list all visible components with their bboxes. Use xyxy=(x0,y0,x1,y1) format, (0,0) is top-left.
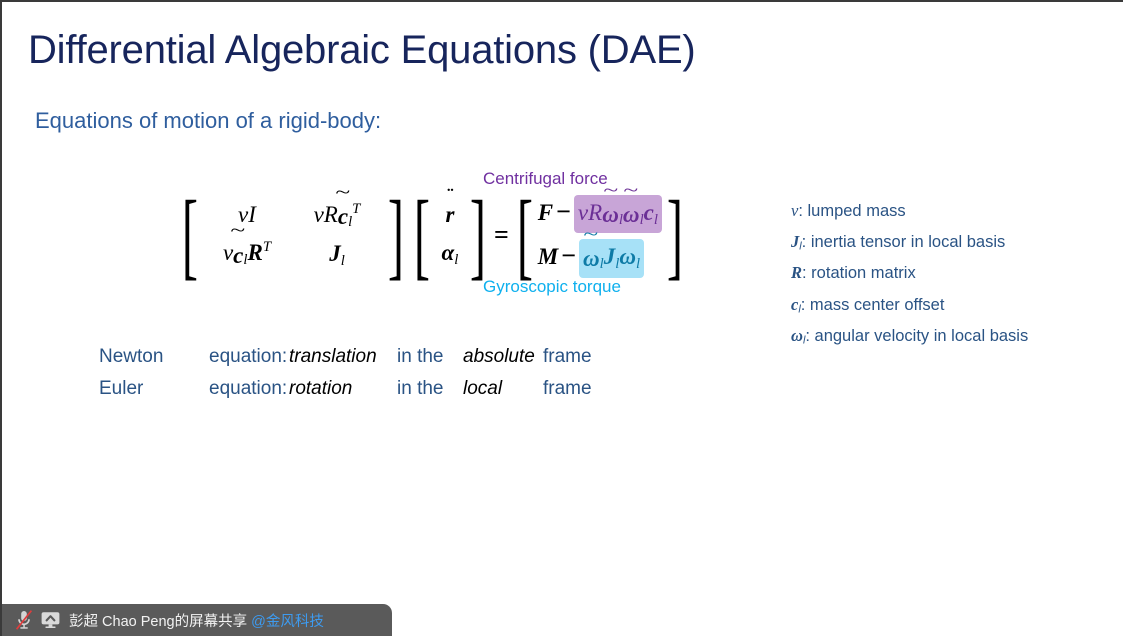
mass-matrix-cell-22: Jl xyxy=(291,237,383,272)
gyroscopic-torque-term: ωlJlωl xyxy=(579,239,644,277)
gyroscopic-torque-label: Gyroscopic torque xyxy=(483,277,621,297)
equation-descriptions: Newton equation: translation in the abso… xyxy=(99,346,592,400)
euler-equation-line: Euler equation: rotation in the local fr… xyxy=(99,378,592,400)
screen-share-status-bar: 彭超 Chao Peng的屏幕共享 @金风科技 xyxy=(2,604,392,636)
force-vector: F − νRωlωlcl M − ωlJlωl xyxy=(538,192,662,278)
symbol-legend: ν: lumped mass Jl: inertia tensor in loc… xyxy=(791,198,1028,354)
legend-item: Jl: inertia tensor in local basis xyxy=(791,229,1028,260)
bracket-open-accel-vector: [ xyxy=(414,197,430,273)
screen-share-icon[interactable] xyxy=(37,608,63,632)
equation-of-motion: [ νI νRclT νclRT Jl ] [ r αl ] = xyxy=(177,192,688,278)
microphone-muted-icon[interactable] xyxy=(11,608,37,632)
centrifugal-force-label: Centrifugal force xyxy=(483,169,608,189)
bracket-close-force-vector: ] xyxy=(667,197,683,273)
legend-item: cl: mass center offset xyxy=(791,292,1028,323)
slide-subtitle: Equations of motion of a rigid-body: xyxy=(35,108,381,134)
mass-matrix: νI νRclT νclRT Jl xyxy=(203,198,383,272)
mass-matrix-cell-21: νclRT xyxy=(203,236,291,272)
bracket-open-force-vector: [ xyxy=(517,197,533,273)
page-title: Differential Algebraic Equations (DAE) xyxy=(28,28,696,73)
presentation-slide: Differential Algebraic Equations (DAE) E… xyxy=(2,2,1123,636)
accel-angular: αl xyxy=(435,236,465,271)
force-row-rotation: M − ωlJlωl xyxy=(538,236,662,277)
equals-sign: = xyxy=(494,220,509,250)
share-owner-handle: @金风科技 xyxy=(251,614,324,630)
accel-linear: r xyxy=(435,198,465,233)
force-row-translation: F − νRωlωlcl xyxy=(538,192,662,233)
bracket-close-accel-vector: ] xyxy=(470,197,486,273)
newton-equation-line: Newton equation: translation in the abso… xyxy=(99,346,592,368)
mass-matrix-cell-12: νRclT xyxy=(291,198,383,234)
bracket-open-mass-matrix: [ xyxy=(182,197,198,273)
share-status-text: 彭超 Chao Peng的屏幕共享 @金风科技 xyxy=(69,610,324,631)
acceleration-vector: r αl xyxy=(435,198,465,271)
legend-item: R: rotation matrix xyxy=(791,260,1028,291)
legend-item: ωl: angular velocity in local basis xyxy=(791,323,1028,354)
bracket-close-mass-matrix: ] xyxy=(388,197,404,273)
mass-matrix-cell-11: νI xyxy=(203,198,291,233)
shared-screen: Differential Algebraic Equations (DAE) E… xyxy=(0,0,1123,636)
share-owner-text: 彭超 Chao Peng的屏幕共享 xyxy=(69,614,247,630)
legend-item: ν: lumped mass xyxy=(791,198,1028,229)
